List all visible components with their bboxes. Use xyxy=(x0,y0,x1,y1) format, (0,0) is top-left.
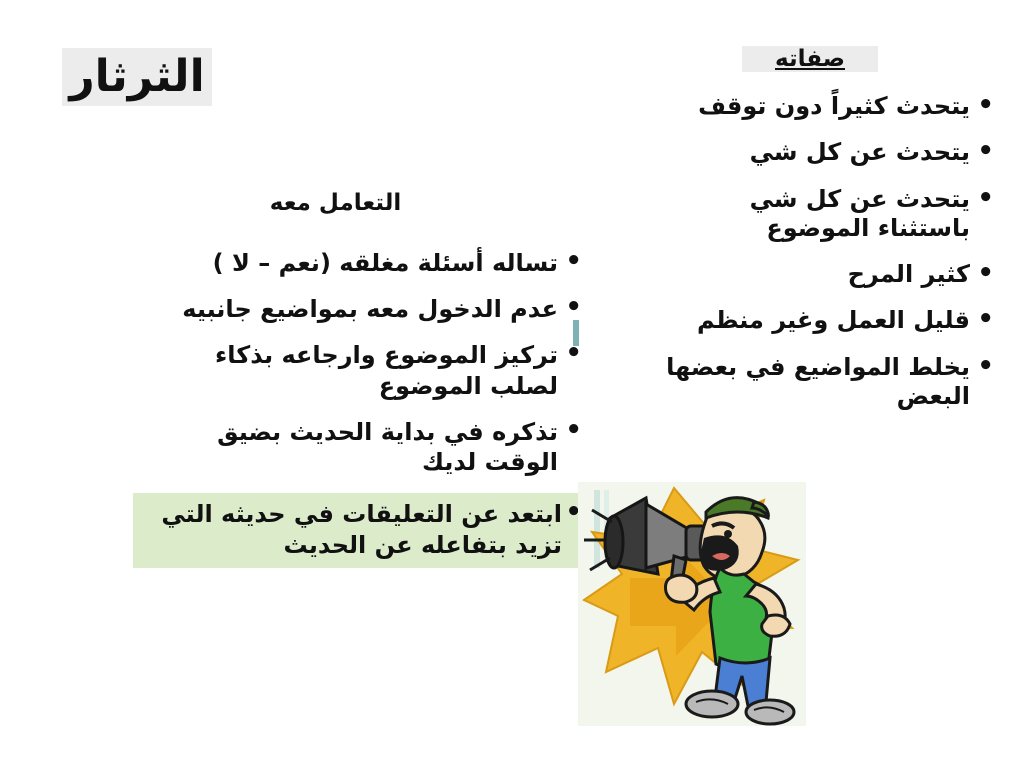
list-item: قليل العمل وغير منظم xyxy=(666,306,996,335)
megaphone-man-illustration xyxy=(578,482,806,726)
traits-heading: صفاته xyxy=(742,46,878,72)
dealing-heading: التعامل معه xyxy=(258,190,413,216)
list-item-highlighted: ابتعد عن التعليقات في حديثه التي تزيد بت… xyxy=(133,493,588,567)
page-title: الثرثار xyxy=(62,48,212,106)
slide-canvas: الثرثار صفاته يتحدث كثيراً دون توقف يتحد… xyxy=(0,0,1024,768)
list-item: يتحدث عن كل شي xyxy=(666,138,996,167)
list-item: تركيز الموضوع وارجاعه بذكاء لصلب الموضوع xyxy=(139,340,584,400)
list-item: يتحدث كثيراً دون توقف xyxy=(666,92,996,121)
dealing-bullet-list: تساله أسئلة مغلقه (نعم – لا ) عدم الدخول… xyxy=(139,248,584,584)
list-item: كثير المرح xyxy=(666,260,996,289)
list-item: تذكره في بداية الحديث بضيق الوقت لديك xyxy=(139,417,584,477)
list-item: تساله أسئلة مغلقه (نعم – لا ) xyxy=(139,248,584,278)
megaphone-man-image xyxy=(578,482,806,726)
text-cursor-caret xyxy=(573,320,579,346)
traits-bullet-list: يتحدث كثيراً دون توقف يتحدث عن كل شي يتح… xyxy=(666,92,996,428)
list-item: يخلط المواضيع في بعضها البعض xyxy=(666,353,996,412)
list-item: يتحدث عن كل شي باستثناء الموضوع xyxy=(666,185,996,244)
list-item: عدم الدخول معه بمواضيع جانبيه xyxy=(139,294,584,324)
